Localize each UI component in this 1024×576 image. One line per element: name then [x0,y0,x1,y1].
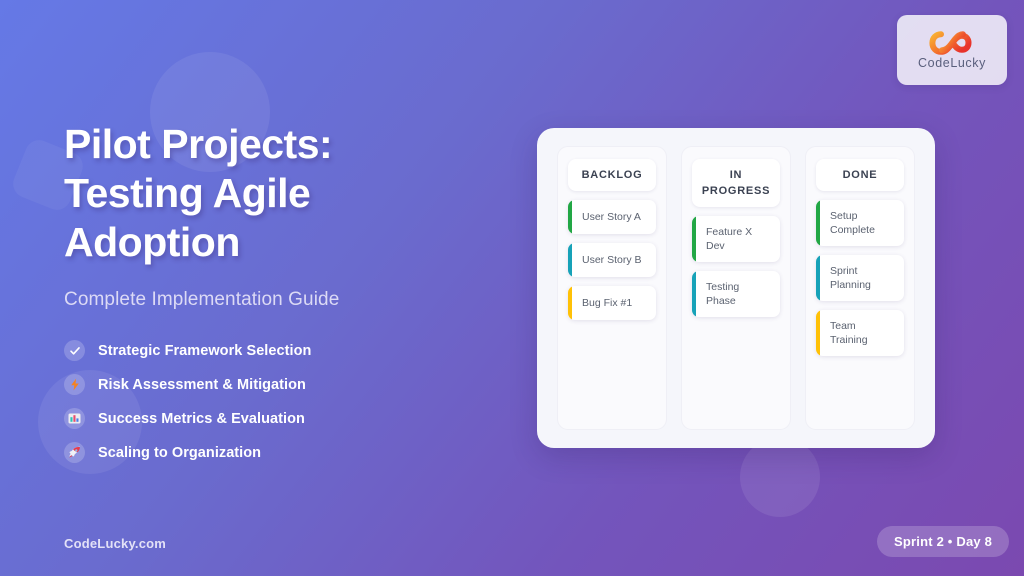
column-header: DONE [816,159,904,191]
feature-item-strategic-framework: Strategic Framework Selection [64,340,484,361]
kanban-column-in-progress: IN PROGRESS Feature X Dev Testing Phase [681,146,791,430]
card-label: User Story B [582,253,642,267]
logo-text: CodeLucky [918,56,986,70]
kanban-card[interactable]: Testing Phase [692,271,780,317]
feature-list: Strategic Framework Selection Risk Asses… [64,340,484,463]
hero-content: Pilot Projects: Testing Agile Adoption C… [64,120,484,463]
kanban-card[interactable]: Bug Fix #1 [568,286,656,320]
check-circle-icon [64,340,85,361]
bar-chart-icon [64,408,85,429]
kanban-column-done: DONE Setup Complete Sprint Planning Team… [805,146,915,430]
sprint-status-badge: Sprint 2 • Day 8 [877,526,1009,557]
card-label: Feature X Dev [706,225,771,253]
kanban-card[interactable]: Setup Complete [816,200,904,246]
feature-label: Risk Assessment & Mitigation [98,377,306,393]
rocket-icon [64,442,85,463]
kanban-card[interactable]: User Story B [568,243,656,277]
kanban-card[interactable]: Team Training [816,310,904,356]
hero-subtitle: Complete Implementation Guide [64,289,484,311]
card-label: Bug Fix #1 [582,296,632,310]
kanban-card[interactable]: User Story A [568,200,656,234]
feature-label: Scaling to Organization [98,445,261,461]
column-header: IN PROGRESS [692,159,780,207]
codelucky-logo-badge[interactable]: CodeLucky [897,15,1007,85]
feature-item-success-metrics: Success Metrics & Evaluation [64,408,484,429]
feature-item-scaling: Scaling to Organization [64,442,484,463]
kanban-board: BACKLOG User Story A User Story B Bug Fi… [537,128,935,448]
card-label: Setup Complete [830,209,895,237]
card-label: Testing Phase [706,280,771,308]
feature-label: Success Metrics & Evaluation [98,411,305,427]
kanban-card[interactable]: Sprint Planning [816,255,904,301]
feature-item-risk-assessment: Risk Assessment & Mitigation [64,374,484,395]
feature-label: Strategic Framework Selection [98,343,311,359]
kanban-column-backlog: BACKLOG User Story A User Story B Bug Fi… [557,146,667,430]
card-label: Team Training [830,319,895,347]
footer-website: CodeLucky.com [64,536,166,551]
lightning-bolt-icon [64,374,85,395]
infinity-loop-icon [929,31,975,55]
slide-canvas: CodeLucky Pilot Projects: Testing Agile … [0,0,1024,576]
page-title: Pilot Projects: Testing Agile Adoption [64,120,484,267]
card-label: Sprint Planning [830,264,895,292]
card-label: User Story A [582,210,641,224]
column-header: BACKLOG [568,159,656,191]
decorative-circle-bottom [740,437,820,517]
kanban-card[interactable]: Feature X Dev [692,216,780,262]
